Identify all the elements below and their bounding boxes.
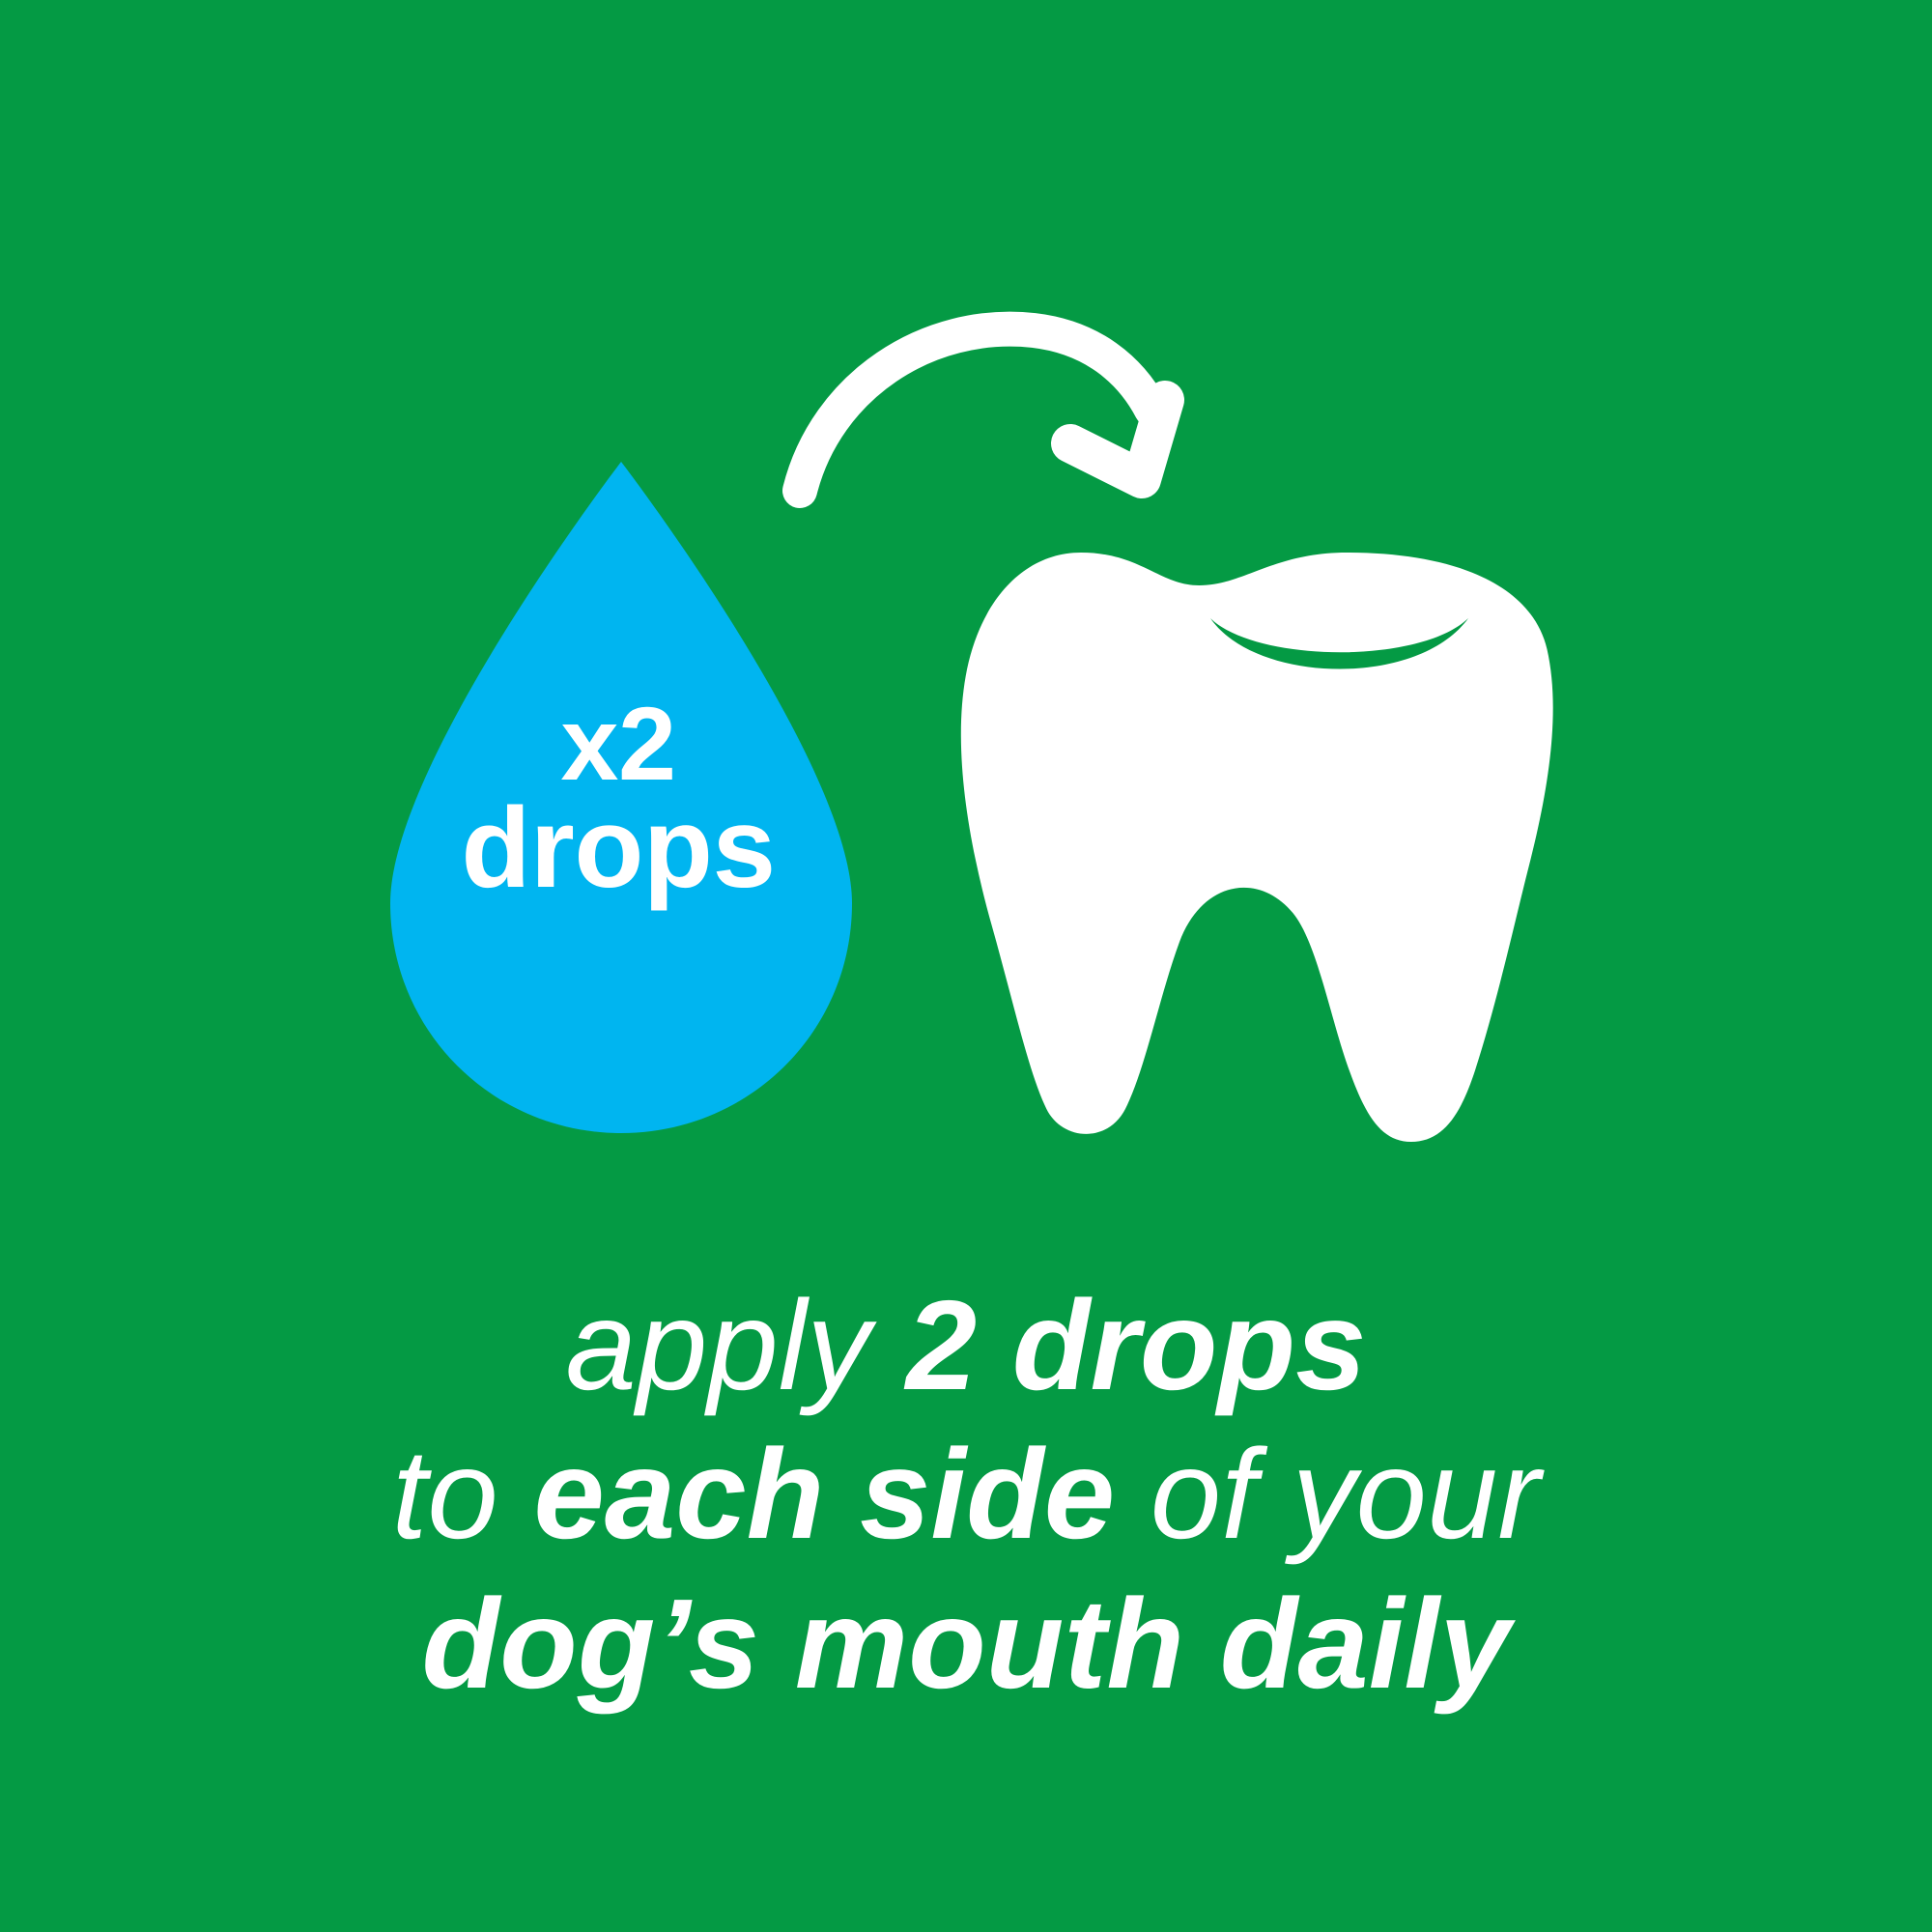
caption-line-2: to each side of your [0,1420,1932,1569]
curved-arrow-icon [800,329,1165,491]
caption-line-1: apply 2 drops [0,1271,1932,1420]
tooth-icon [961,553,1553,1142]
caption-line-2-part-2: each side [533,1423,1115,1565]
caption-line-2-part-1: to [392,1423,534,1565]
caption-line-3-part-1: dog’s mouth daily [422,1573,1511,1715]
instruction-graphic [0,0,1932,1217]
caption-line-1-part-2: 2 drops [906,1274,1367,1416]
water-droplet-icon [390,462,852,1133]
instruction-poster: x2 drops apply 2 drops to each side of y… [0,0,1932,1932]
caption-line-1-part-1: apply [565,1274,905,1416]
caption-line-2-part-3: of your [1115,1423,1540,1565]
caption-line-3: dog’s mouth daily [0,1570,1932,1719]
instruction-caption: apply 2 drops to each side of your dog’s… [0,1271,1932,1719]
